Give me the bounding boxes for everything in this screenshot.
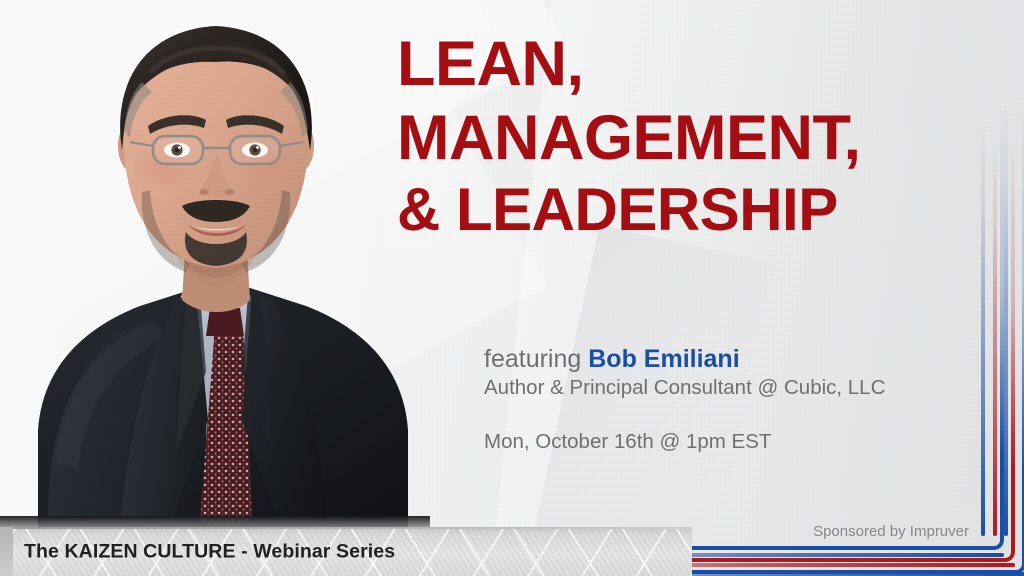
featuring-prefix: featuring bbox=[484, 345, 588, 373]
title-line-3: & LEADERSHIP bbox=[397, 181, 957, 240]
accent-rail-blue-inner bbox=[1004, 100, 1008, 536]
featuring-line: featuring Bob Emiliani bbox=[484, 345, 954, 373]
sponsor-credit: Sponsored by Impruver bbox=[813, 523, 969, 540]
webinar-promo-slide: LEAN, MANAGEMENT, & LEADERSHIP featuring… bbox=[0, 0, 1024, 576]
footer-top-line bbox=[0, 527, 692, 529]
webinar-series-title: The KAIZEN CULTURE - Webinar Series bbox=[24, 540, 395, 563]
footer-bar: The KAIZEN CULTURE - Webinar Series bbox=[0, 527, 692, 576]
speaker-name: Bob Emiliani bbox=[588, 345, 739, 373]
accent-rail-blue-outer bbox=[981, 118, 985, 536]
page-title: LEAN, MANAGEMENT, & LEADERSHIP bbox=[397, 34, 957, 240]
footer-left-cap bbox=[0, 527, 13, 576]
speaker-info: featuring Bob Emiliani Author & Principa… bbox=[484, 345, 954, 454]
title-line-2: MANAGEMENT, bbox=[397, 108, 957, 170]
title-line-1: LEAN, bbox=[397, 34, 957, 96]
accent-rail-red bbox=[993, 140, 997, 536]
event-date: Mon, October 16th @ 1pm EST bbox=[484, 430, 954, 454]
speaker-role: Author & Principal Consultant @ Cubic, L… bbox=[484, 376, 954, 400]
speaker-portrait bbox=[0, 0, 430, 530]
